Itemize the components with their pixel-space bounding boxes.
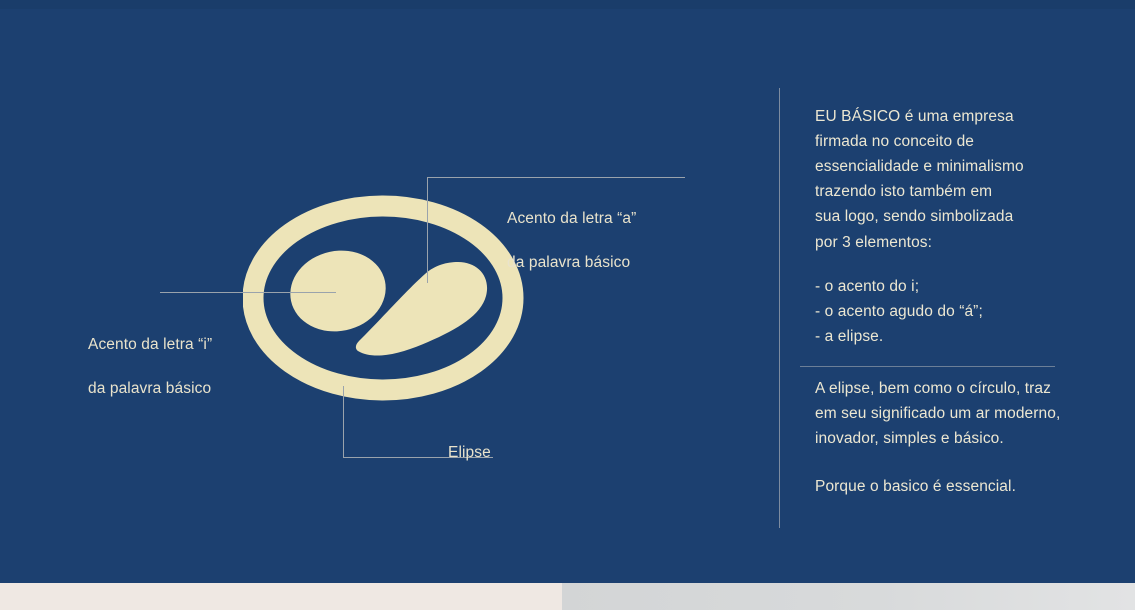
panel-bullet-list: - o acento do i; - o acento agudo do “á”…: [815, 274, 1090, 349]
callout-label-accent-a-line1: Acento da letra “a”: [507, 208, 636, 230]
panel-intro-text: EU BÁSICO é uma empresa firmada no conce…: [815, 104, 1090, 255]
callout-line-accent-i-horizontal: [160, 292, 336, 293]
callout-label-ellipse-line1: Elipse: [448, 442, 491, 464]
bottom-strip-right-swatch: [562, 583, 1135, 610]
callout-line-ellipse-vertical: [343, 386, 344, 458]
callout-label-accent-i-line1: Acento da letra “i”: [88, 334, 212, 356]
panel-horizontal-divider: [800, 366, 1055, 367]
callout-label-accent-a: Acento da letra “a” da palavra básico: [507, 186, 636, 296]
callout-label-ellipse: Elipse: [448, 420, 491, 486]
panel-vertical-divider: [779, 88, 780, 528]
eu-basico-logo: [243, 193, 528, 403]
bottom-strip: [0, 583, 1135, 610]
panel-closing-text: A elipse, bem como o círculo, traz em se…: [815, 376, 1090, 451]
callout-line-accent-a-horizontal: [427, 177, 685, 178]
slide-canvas: Acento da letra “a” da palavra básico Ac…: [0, 0, 1135, 610]
panel-final-text: Porque o basico é essencial.: [815, 474, 1090, 499]
callout-label-accent-i-line2: da palavra básico: [88, 378, 212, 400]
callout-label-accent-a-line2: da palavra básico: [507, 252, 636, 274]
callout-line-accent-a-vertical: [427, 177, 428, 283]
bottom-strip-left-swatch: [0, 583, 562, 610]
callout-label-accent-i: Acento da letra “i” da palavra básico: [88, 312, 212, 422]
top-edge-band: [0, 0, 1135, 9]
logo-svg: [243, 193, 528, 403]
